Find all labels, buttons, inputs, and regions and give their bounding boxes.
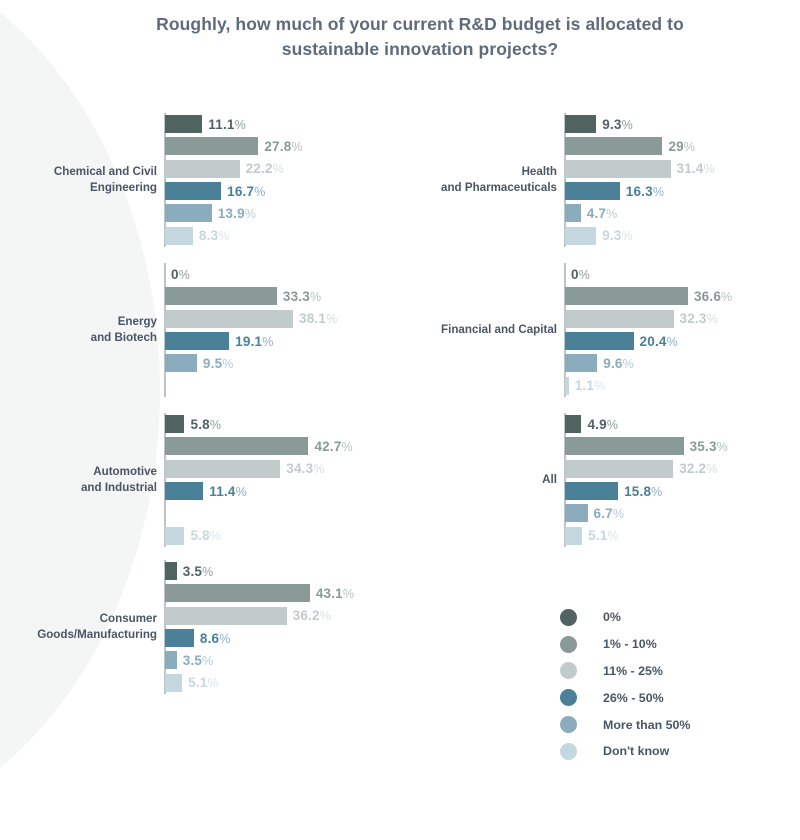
bar-row[interactable]: 9.6% (565, 352, 634, 374)
bar-row[interactable]: 38.1% (165, 308, 337, 330)
plot-area-financial-and-capital: 0%36.6%32.3%20.4%9.6%1.1% (565, 263, 800, 397)
bar-value-label: 11.4% (209, 484, 247, 499)
bar-more-than-50-[interactable] (565, 504, 588, 522)
panel-energy-and-biotech: Energyand Biotech0%33.3%38.1%19.1%9.5% (0, 255, 400, 405)
bar-value-label: 5.8% (190, 417, 221, 432)
bar-26-50-[interactable] (165, 332, 229, 350)
bar-row[interactable]: 32.2% (565, 458, 718, 480)
bar-row[interactable]: 19.1% (165, 330, 274, 352)
plot-area-automotive-and-industrial: 5.8%42.7%34.3%11.4%5.8% (165, 413, 400, 547)
bar-11-25-[interactable] (165, 607, 287, 625)
bar-row[interactable]: 1.1% (565, 375, 605, 397)
bar-value-label: 5.8% (190, 528, 221, 543)
bar-more-than-50-[interactable] (165, 204, 212, 222)
bar-row[interactable]: 3.5% (165, 649, 213, 671)
bar-value-label: 16.7% (227, 184, 265, 199)
bar-value-label: 13.9% (218, 206, 256, 221)
bar-value-label: 42.7% (314, 439, 352, 454)
bar-more-than-50-[interactable] (165, 651, 177, 669)
bar-value-label: 8.6% (200, 631, 231, 646)
plot-area-chemical-and-civil-engineering: 11.1%27.8%22.2%16.7%13.9%8.3% (165, 113, 400, 247)
bar-1-10-[interactable] (565, 287, 688, 305)
bar-don-t-know[interactable] (165, 674, 182, 692)
bar-row[interactable]: 4.7% (565, 202, 617, 224)
panel-label-all: All (377, 405, 557, 555)
panel-label-health-and-pharmaceuticals: Healthand Pharmaceuticals (377, 105, 557, 255)
legend-item[interactable]: 1% - 10% (560, 631, 790, 658)
bar-row[interactable]: 0% (165, 263, 190, 285)
bar-row[interactable]: 34.3% (165, 458, 325, 480)
legend-0-percent-swatch-icon (560, 609, 577, 626)
legend-more-than-50-label: More than 50% (603, 718, 690, 732)
bar-value-label: 9.6% (603, 356, 634, 371)
legend-26-to-50-label: 26% - 50% (603, 691, 664, 705)
legend-11-to-25-swatch-icon (560, 662, 577, 679)
bar-value-label: 8.3% (199, 228, 230, 243)
panel-label-energy-and-biotech: Energyand Biotech (0, 255, 157, 405)
legend-item[interactable]: 11% - 25% (560, 658, 790, 685)
bar-11-25-[interactable] (565, 160, 671, 178)
bar-row[interactable]: 31.4% (565, 158, 715, 180)
chart-legend: 0%1% - 10%11% - 25%26% - 50%More than 50… (560, 604, 790, 765)
bar-value-label: 36.6% (694, 289, 732, 304)
bar-row[interactable]: 5.8% (165, 413, 221, 435)
bar-row[interactable]: 15.8% (565, 480, 662, 502)
bar-0-[interactable] (165, 562, 177, 580)
bar-value-label: 3.5% (183, 653, 214, 668)
bar-row[interactable]: 43.1% (165, 582, 354, 604)
bar-26-50-[interactable] (165, 629, 194, 647)
bar-row[interactable]: 16.7% (165, 180, 266, 202)
bar-value-label: 31.4% (677, 161, 715, 176)
bar-row[interactable]: 11.1% (165, 113, 246, 135)
bar-26-50-[interactable] (165, 182, 221, 200)
bar-1-10-[interactable] (565, 437, 684, 455)
plot-area-health-and-pharmaceuticals: 9.3%29%31.4%16.3%4.7%9.3% (565, 113, 800, 247)
bar-more-than-50-[interactable] (565, 354, 597, 372)
bar-value-label: 29% (668, 139, 695, 154)
bar-row[interactable]: 9.3% (565, 225, 633, 247)
bar-don-t-know[interactable] (165, 527, 184, 545)
bar-11-25-[interactable] (565, 460, 673, 478)
bar-value-label: 1.1% (575, 378, 606, 393)
bar-row[interactable]: 5.1% (165, 672, 219, 694)
bar-1-10-[interactable] (165, 584, 310, 602)
bar-don-t-know[interactable] (565, 227, 596, 245)
bar-11-25-[interactable] (165, 160, 240, 178)
panel-chemical-and-civil-engineering: Chemical and CivilEngineering11.1%27.8%2… (0, 105, 400, 255)
bar-26-50-[interactable] (165, 482, 203, 500)
legend-dont-know-label: Don't know (603, 744, 669, 758)
bar-value-label: 4.7% (587, 206, 618, 221)
bar-row[interactable]: 0% (565, 263, 590, 285)
bar-0-[interactable] (565, 415, 581, 433)
panel-all: All4.9%35.3%32.2%15.8%6.7%5.1% (400, 405, 800, 555)
bar-row[interactable]: 27.8% (165, 135, 303, 157)
bar-row[interactable]: 36.6% (565, 285, 732, 307)
bar-value-label: 6.7% (594, 506, 625, 521)
bar-1-10-[interactable] (165, 287, 277, 305)
bar-row[interactable]: 6.7% (565, 502, 624, 524)
plot-area-all: 4.9%35.3%32.2%15.8%6.7%5.1% (565, 413, 800, 547)
bar-value-label: 22.2% (246, 161, 284, 176)
plot-area-energy-and-biotech: 0%33.3%38.1%19.1%9.5% (165, 263, 400, 397)
chart-stage: Roughly, how much of your current R&D bu… (0, 0, 800, 770)
bar-value-label: 19.1% (235, 334, 273, 349)
legend-dont-know-swatch-icon (560, 743, 577, 760)
legend-26-to-50-swatch-icon (560, 689, 577, 706)
bar-row[interactable]: 29% (565, 135, 695, 157)
bar-value-label: 9.5% (203, 356, 234, 371)
bar-0-[interactable] (165, 415, 184, 433)
legend-item[interactable]: 0% (560, 604, 790, 631)
bar-value-label: 16.3% (626, 184, 664, 199)
bar-value-label: 35.3% (690, 439, 728, 454)
panel-automotive-and-industrial: Automotiveand Industrial5.8%42.7%34.3%11… (0, 405, 400, 555)
bar-value-label: 0% (571, 267, 590, 282)
bar-row[interactable]: 42.7% (165, 435, 353, 457)
bar-row[interactable]: 9.3% (565, 113, 633, 135)
bar-row[interactable]: 8.3% (165, 225, 230, 247)
bar-26-50-[interactable] (565, 182, 620, 200)
panel-consumer-goods-manufacturing: ConsumerGoods/Manufacturing3.5%43.1%36.2… (0, 552, 400, 702)
panel-label-automotive-and-industrial: Automotiveand Industrial (0, 405, 157, 555)
panel-health-and-pharmaceuticals: Healthand Pharmaceuticals9.3%29%31.4%16.… (400, 105, 800, 255)
bar-row[interactable]: 33.3% (165, 285, 321, 307)
bar-row[interactable]: 5.1% (565, 525, 619, 547)
bar-more-than-50-[interactable] (165, 354, 197, 372)
bar-row[interactable]: 11.4% (165, 480, 247, 502)
bar-row[interactable]: 32.3% (565, 308, 718, 330)
bar-value-label: 20.4% (640, 334, 678, 349)
bar-value-label: 32.3% (680, 311, 718, 326)
bar-0-[interactable] (165, 115, 202, 133)
bar-11-25-[interactable] (165, 460, 280, 478)
page-title: Roughly, how much of your current R&D bu… (130, 12, 710, 62)
bar-row[interactable]: 16.3% (565, 180, 664, 202)
bar-value-label: 11.1% (208, 117, 246, 132)
legend-1-to-10-swatch-icon (560, 636, 577, 653)
bar-row[interactable]: 35.3% (565, 435, 728, 457)
panel-financial-and-capital: Financial and Capital0%36.6%32.3%20.4%9.… (400, 255, 800, 405)
bar-1-10-[interactable] (165, 437, 308, 455)
bar-don-t-know[interactable] (165, 227, 193, 245)
bar-value-label: 36.2% (293, 608, 331, 623)
panel-label-financial-and-capital: Financial and Capital (377, 255, 557, 405)
bar-row[interactable]: 36.2% (165, 605, 331, 627)
bar-row[interactable]: 3.5% (165, 560, 213, 582)
bar-value-label: 9.3% (602, 228, 633, 243)
bar-value-label: 34.3% (286, 461, 324, 476)
legend-item[interactable]: More than 50% (560, 711, 790, 738)
bar-don-t-know[interactable] (565, 377, 569, 395)
panel-label-chemical-and-civil-engineering: Chemical and CivilEngineering (0, 105, 157, 255)
bar-11-25-[interactable] (565, 310, 674, 328)
bar-value-label: 9.3% (602, 117, 633, 132)
bar-value-label: 43.1% (316, 586, 354, 601)
legend-1-to-10-label: 1% - 10% (603, 637, 657, 651)
legend-item[interactable]: Don't know (560, 738, 790, 765)
bar-1-10-[interactable] (165, 137, 258, 155)
bar-row[interactable]: 9.5% (165, 352, 234, 374)
bar-don-t-know[interactable] (565, 527, 582, 545)
panel-label-consumer-goods-manufacturing: ConsumerGoods/Manufacturing (0, 552, 157, 702)
bar-row[interactable]: 5.8% (165, 525, 221, 547)
bar-0-[interactable] (565, 115, 596, 133)
bar-26-50-[interactable] (565, 332, 634, 350)
plot-area-consumer-goods-manufacturing: 3.5%43.1%36.2%8.6%3.5%5.1% (165, 560, 400, 694)
legend-more-than-50-swatch-icon (560, 716, 577, 733)
bar-row[interactable]: 22.2% (165, 158, 284, 180)
legend-11-to-25-label: 11% - 25% (603, 664, 663, 678)
bar-row[interactable]: 20.4% (565, 330, 678, 352)
bar-row[interactable]: 4.9% (565, 413, 618, 435)
bar-value-label: 5.1% (588, 528, 619, 543)
legend-0-percent-label: 0% (603, 610, 621, 624)
bar-value-label: 32.2% (679, 461, 717, 476)
bar-value-label: 4.9% (587, 417, 618, 432)
bar-row[interactable]: 8.6% (165, 627, 231, 649)
bar-row[interactable]: 13.9% (165, 202, 256, 224)
bar-value-label: 5.1% (188, 675, 219, 690)
bar-value-label: 33.3% (283, 289, 321, 304)
bar-1-10-[interactable] (565, 137, 662, 155)
bar-26-50-[interactable] (565, 482, 618, 500)
bar-value-label: 15.8% (624, 484, 662, 499)
legend-item[interactable]: 26% - 50% (560, 684, 790, 711)
bar-more-than-50-[interactable] (565, 204, 581, 222)
bar-value-label: 27.8% (264, 139, 302, 154)
bar-11-25-[interactable] (165, 310, 293, 328)
bar-value-label: 38.1% (299, 311, 337, 326)
bar-value-label: 3.5% (183, 564, 214, 579)
bar-value-label: 0% (171, 267, 190, 282)
